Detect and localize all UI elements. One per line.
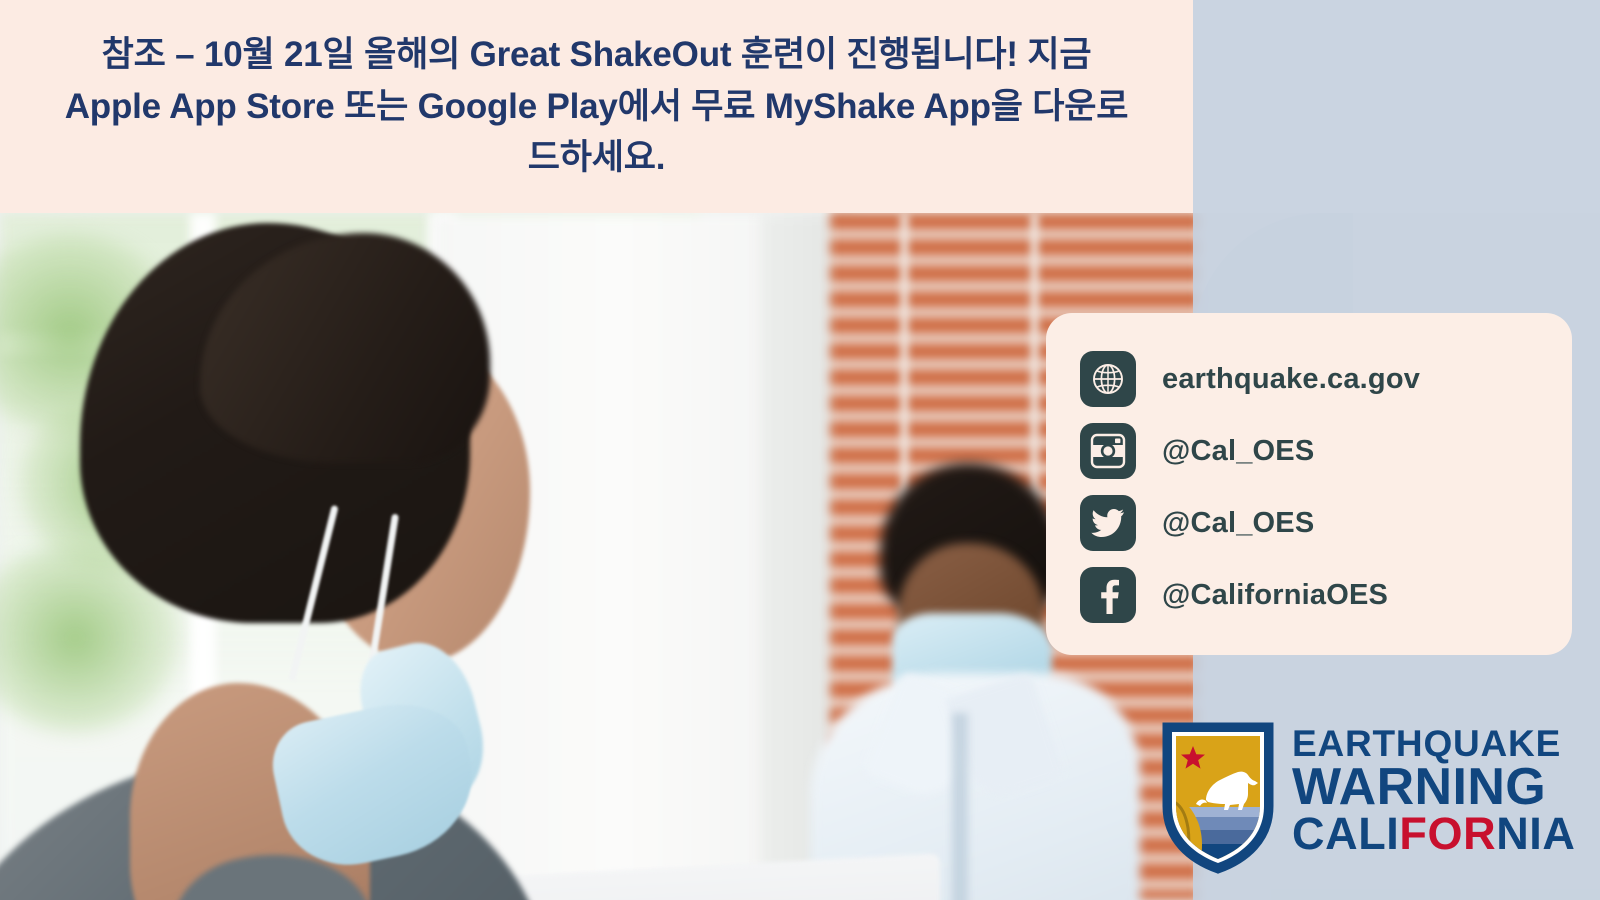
logo-california-part3: NIA	[1496, 808, 1575, 859]
social-row-website[interactable]: earthquake.ca.gov	[1080, 343, 1572, 415]
globe-icon	[1080, 351, 1136, 407]
poster-canvas: 참조 – 10월 21일 올해의 Great ShakeOut 훈련이 진행됩니…	[0, 0, 1600, 900]
logo-line-california: CALIFORNIA	[1292, 812, 1576, 856]
social-row-instagram[interactable]: @Cal_OES	[1080, 415, 1572, 487]
website-label: earthquake.ca.gov	[1162, 363, 1420, 396]
facebook-icon	[1080, 567, 1136, 623]
logo-california-part2: FOR	[1399, 808, 1496, 859]
logo-line-warning: WARNING	[1292, 762, 1576, 812]
facebook-label: @CaliforniaOES	[1162, 579, 1388, 612]
logo-line-earthquake: EARTHQUAKE	[1292, 726, 1576, 762]
instagram-label: @Cal_OES	[1162, 435, 1314, 468]
contact-social-card: earthquake.ca.gov @Cal_OES @Cal_OES	[1046, 313, 1572, 655]
social-row-twitter[interactable]: @Cal_OES	[1080, 487, 1572, 559]
woman-shirt-placket	[952, 713, 968, 900]
social-row-facebook[interactable]: @CaliforniaOES	[1080, 559, 1572, 631]
logo-wordmark: EARTHQUAKE WARNING CALIFORNIA	[1292, 722, 1576, 856]
twitter-icon	[1080, 495, 1136, 551]
logo-california-part1: CALI	[1292, 808, 1399, 859]
california-shield-icon	[1162, 722, 1274, 874]
earthquake-warning-california-logo: EARTHQUAKE WARNING CALIFORNIA	[1162, 722, 1582, 882]
twitter-label: @Cal_OES	[1162, 507, 1314, 540]
instagram-icon	[1080, 423, 1136, 479]
announcement-text: 참조 – 10월 21일 올해의 Great ShakeOut 훈련이 진행됩니…	[32, 29, 1162, 184]
announcement-banner: 참조 – 10월 21일 올해의 Great ShakeOut 훈련이 진행됩니…	[0, 0, 1193, 213]
